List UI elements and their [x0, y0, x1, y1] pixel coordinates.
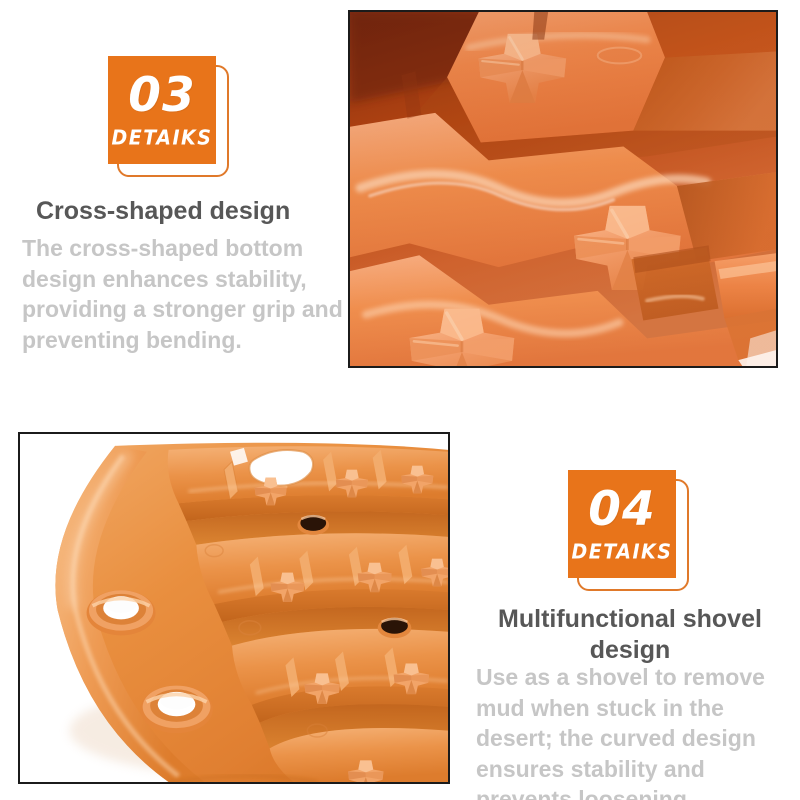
section-04-heading: Multifunctional shovel design: [470, 604, 790, 667]
product-photo-underside-shovel: [18, 432, 450, 784]
badge-03-fill: 03 DETAIKS: [108, 56, 216, 164]
badge-03: 03 DETAIKS: [108, 56, 232, 180]
underside-illustration: [20, 434, 448, 782]
badge-04-word: DETAIKS: [572, 540, 673, 564]
badge-03-word: DETAIKS: [112, 126, 213, 150]
section-03-heading: Cross-shaped design: [36, 196, 346, 227]
product-detail-page: 03 DETAIKS Cross-shaped design The cross…: [0, 0, 800, 800]
badge-03-number: 03: [128, 72, 195, 119]
badge-04: 04 DETAIKS: [568, 470, 692, 594]
badge-04-number: 04: [588, 486, 655, 533]
cross-stud-illustration: [350, 12, 776, 366]
section-03-body: The cross-shaped bottom design enhances …: [22, 233, 352, 355]
product-photo-cross-studs: [348, 10, 778, 368]
section-04-body: Use as a shovel to remove mud when stuck…: [476, 662, 796, 800]
badge-04-fill: 04 DETAIKS: [568, 470, 676, 578]
